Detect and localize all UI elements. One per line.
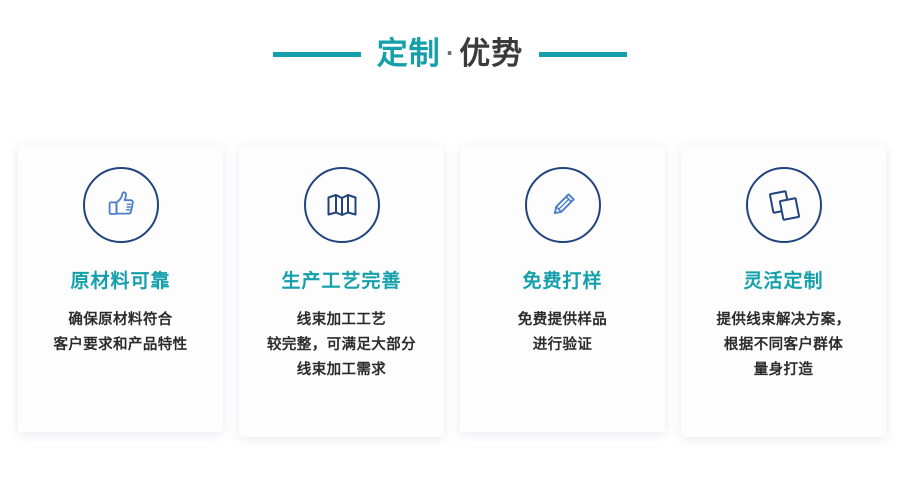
card-body-line: 免费提供样品 [518, 308, 607, 333]
card-body: 免费提供样品 进行验证 [518, 308, 607, 358]
pencil-icon [543, 185, 583, 225]
card-title: 灵活定制 [743, 271, 823, 292]
icon-circle [83, 167, 159, 243]
page-title-separator: · [441, 41, 460, 65]
card-body: 提供线束解决方案， 根据不同客户群体 量身打造 [716, 308, 850, 383]
card-body: 线束加工工艺 较完整，可满足大部分 线束加工需求 [267, 308, 416, 383]
card-title: 原材料可靠 [70, 271, 170, 292]
card-body-line: 客户要求和产品特性 [53, 333, 187, 358]
thumbs-up-icon [101, 185, 141, 225]
feature-card-list: 原材料可靠 确保原材料符合 客户要求和产品特性 生产工艺完善 线束加工工艺 较完… [18, 145, 886, 437]
icon-circle [746, 167, 822, 243]
section-header: 定制·优势 [0, 28, 900, 80]
feature-card[interactable]: 灵活定制 提供线束解决方案， 根据不同客户群体 量身打造 [681, 145, 886, 437]
feature-card[interactable]: 生产工艺完善 线束加工工艺 较完整，可满足大部分 线束加工需求 [239, 145, 444, 437]
page-title-main: 优势 [459, 36, 523, 72]
feature-card[interactable]: 免费打样 免费提供样品 进行验证 [460, 145, 665, 432]
page-title-accent: 定制 [377, 36, 441, 72]
card-title: 生产工艺完善 [281, 271, 401, 292]
card-body-line: 进行验证 [518, 333, 607, 358]
overlapping-cards-icon [763, 184, 805, 226]
card-body-line: 确保原材料符合 [53, 308, 187, 333]
page-title: 定制·优势 [377, 39, 524, 70]
icon-circle [304, 167, 380, 243]
feature-card[interactable]: 原材料可靠 确保原材料符合 客户要求和产品特性 [18, 145, 223, 432]
title-rule-left [273, 52, 361, 57]
card-body-line: 线束加工工艺 [267, 308, 416, 333]
title-rule-right [539, 52, 627, 57]
card-body-line: 根据不同客户群体 [716, 333, 850, 358]
card-body-line: 较完整，可满足大部分 [267, 333, 416, 358]
card-body: 确保原材料符合 客户要求和产品特性 [53, 308, 187, 358]
card-title: 免费打样 [522, 271, 602, 292]
card-body-line: 线束加工需求 [267, 358, 416, 383]
folded-map-icon [322, 185, 362, 225]
card-body-line: 量身打造 [716, 358, 850, 383]
card-body-line: 提供线束解决方案， [716, 308, 850, 333]
icon-circle [525, 167, 601, 243]
